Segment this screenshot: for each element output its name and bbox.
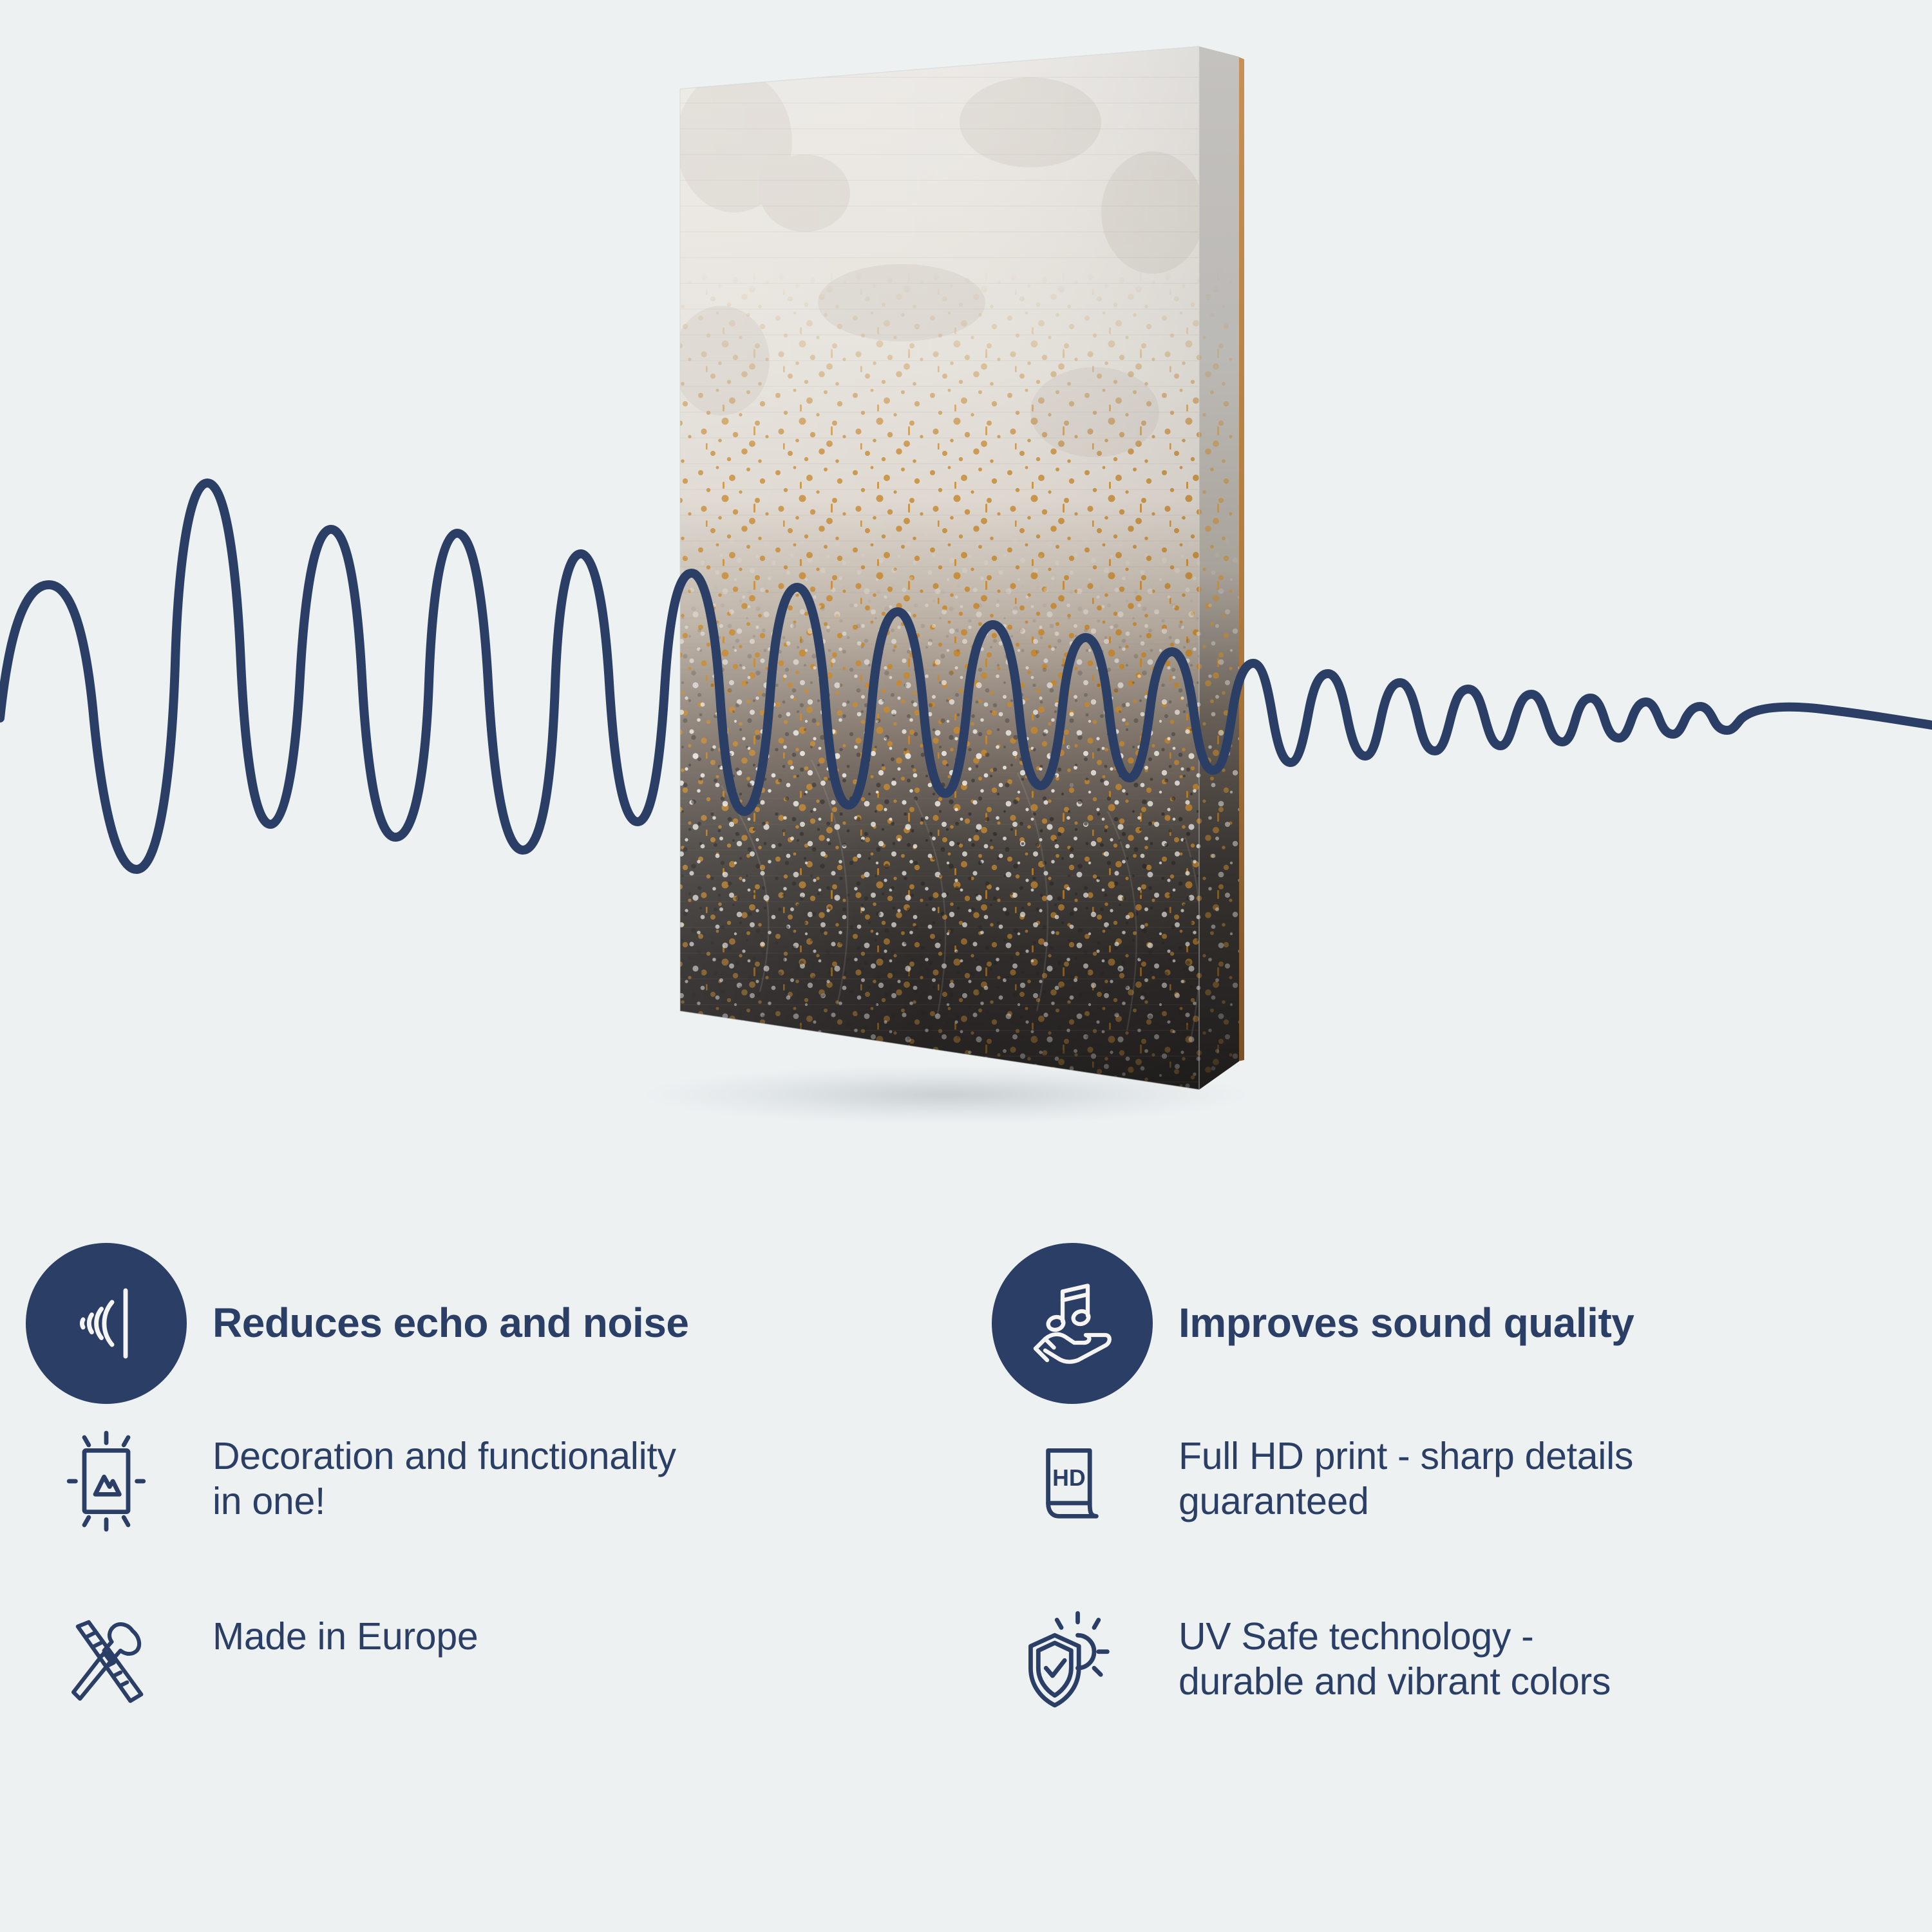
feature-list: Reduces echo and noise (0, 1227, 1932, 1897)
feature-line: Reduces echo and noise (213, 1299, 688, 1348)
feature-icon-slot (966, 1600, 1179, 1723)
hd-badge-text: HD (1052, 1465, 1086, 1491)
sound-waves-wall-icon (26, 1243, 187, 1404)
feature-made-in-europe: Made in Europe (0, 1600, 966, 1794)
feature-reduces-echo: Reduces echo and noise (0, 1227, 966, 1420)
feature-label: Made in Europe (213, 1600, 478, 1660)
feature-improves-sound: Improves sound quality (966, 1227, 1932, 1420)
feature-line: UV Safe technology - (1179, 1615, 1611, 1660)
framed-picture-shine-icon (45, 1420, 167, 1542)
feature-line: in one! (213, 1479, 676, 1524)
feature-uv-safe: UV Safe technology - durable and vibrant… (966, 1600, 1932, 1794)
infographic-root: Reduces echo and noise (0, 0, 1932, 1932)
sound-wave-path (0, 483, 1932, 869)
feature-line: Full HD print - sharp details (1179, 1434, 1633, 1479)
feature-icon-slot (0, 1243, 213, 1404)
feature-icon-slot (0, 1420, 213, 1542)
feature-icon-slot: HD (966, 1420, 1179, 1542)
feature-label: Reduces echo and noise (213, 1299, 688, 1348)
feature-icon-slot (966, 1243, 1179, 1404)
hd-print-sheet-icon: HD (1011, 1420, 1133, 1542)
feature-icon-slot (0, 1600, 213, 1723)
feature-line: guaranteed (1179, 1479, 1633, 1524)
feature-label: Full HD print - sharp details guaranteed (1179, 1420, 1633, 1524)
feature-label: UV Safe technology - durable and vibrant… (1179, 1600, 1611, 1704)
feature-full-hd-print: HD Full HD print - sharp details guarant… (966, 1420, 1932, 1600)
feature-decoration-functionality: Decoration and functionality in one! (0, 1420, 966, 1600)
feature-label: Improves sound quality (1179, 1299, 1634, 1348)
music-note-hand-icon (992, 1243, 1153, 1404)
shield-check-sun-icon (1011, 1600, 1133, 1723)
feature-line: Decoration and functionality (213, 1434, 676, 1479)
feature-label: Decoration and functionality in one! (213, 1420, 676, 1524)
feature-line: durable and vibrant colors (1179, 1660, 1611, 1705)
sound-wave-line (0, 361, 1932, 940)
hammer-ruler-icon (45, 1600, 167, 1723)
feature-line: Made in Europe (213, 1615, 478, 1660)
feature-line: Improves sound quality (1179, 1299, 1634, 1348)
